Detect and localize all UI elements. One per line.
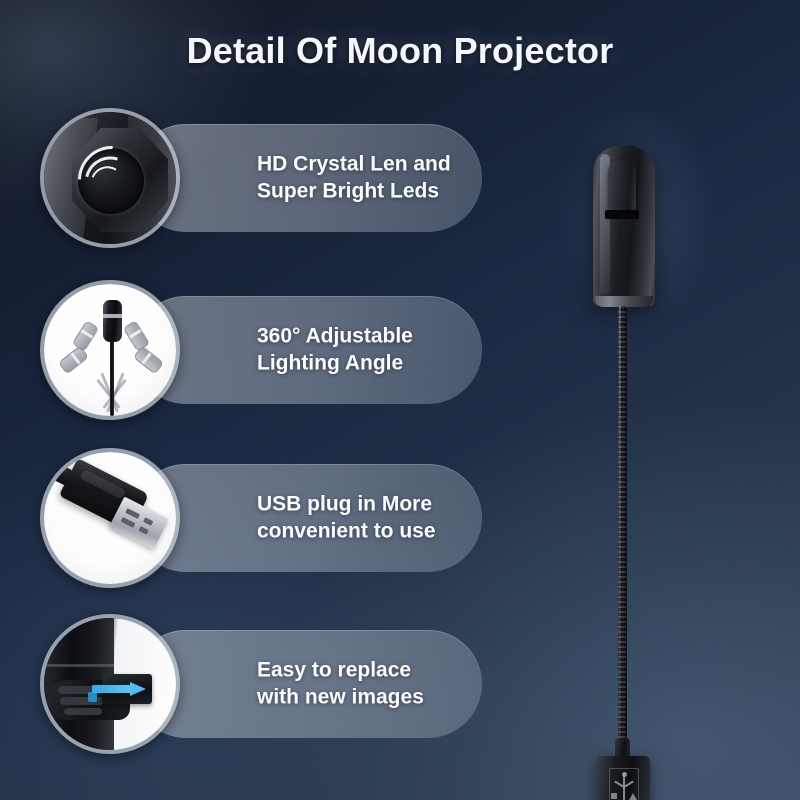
product-photo bbox=[560, 120, 760, 780]
product-infographic: Detail Of Moon Projector HD Crystal Len … bbox=[0, 0, 800, 800]
feature-row: HD Crystal Len and Super Bright Leds bbox=[40, 108, 460, 248]
usb-trident-icon bbox=[609, 768, 639, 800]
feature-label: 360° Adjustable Lighting Angle bbox=[257, 323, 507, 378]
usb-plug-housing bbox=[596, 756, 650, 800]
page-title: Detail Of Moon Projector bbox=[0, 30, 800, 72]
feature-row: Easy to replace with new images bbox=[40, 614, 460, 754]
product-glow bbox=[560, 110, 760, 410]
feature-label: Easy to replace with new images bbox=[257, 657, 507, 712]
usb-plug-photo-icon bbox=[40, 448, 180, 588]
slide-slot bbox=[605, 210, 639, 219]
blue-arrow-icon bbox=[92, 682, 148, 695]
gooseneck-fan-photo-icon bbox=[40, 280, 180, 420]
lamp-head-band bbox=[103, 314, 122, 318]
feature-pill: USB plug in More convenient to use bbox=[132, 464, 482, 572]
lens-clip bbox=[608, 160, 636, 212]
gooseneck-highlight bbox=[619, 306, 621, 746]
feature-label: HD Crystal Len and Super Bright Leds bbox=[257, 151, 507, 206]
feature-row: USB plug in More convenient to use bbox=[40, 448, 460, 588]
feature-pill: HD Crystal Len and Super Bright Leds bbox=[132, 124, 482, 232]
lens-photo-icon bbox=[40, 108, 180, 248]
feature-row: 360° Adjustable Lighting Angle bbox=[40, 280, 460, 420]
feature-pill: Easy to replace with new images bbox=[132, 630, 482, 738]
lamp-head bbox=[103, 300, 122, 342]
slide-swap-photo-icon bbox=[40, 614, 180, 754]
feature-label: USB plug in More convenient to use bbox=[257, 491, 507, 546]
feature-pill: 360° Adjustable Lighting Angle bbox=[132, 296, 482, 404]
gooseneck-stem bbox=[110, 332, 114, 416]
